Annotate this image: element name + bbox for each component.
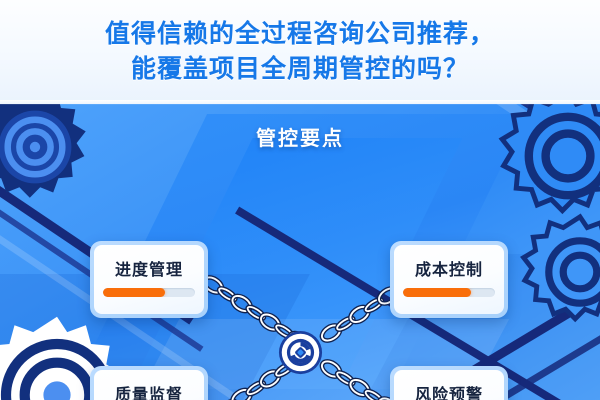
card-quality-supervision[interactable]: 质量监督 [90, 366, 208, 400]
title-line-1: 值得信赖的全过程咨询公司推荐， [105, 17, 495, 53]
progress-track [403, 288, 495, 297]
progress-fill [403, 288, 471, 297]
card-risk-warning[interactable]: 风险预警 [390, 366, 508, 400]
hub-gear-icon [278, 330, 323, 375]
infographic-stage: 管控要点 [0, 104, 600, 400]
progress-track [103, 288, 195, 297]
card-cost-control[interactable]: 成本控制 [390, 241, 508, 318]
center-heading: 管控要点 [0, 122, 600, 151]
card-inner: 进度管理 [94, 245, 204, 314]
card-schedule-management[interactable]: 进度管理 [90, 241, 208, 318]
card-inner: 风险预警 [394, 370, 504, 400]
poster-header: 值得信赖的全过程咨询公司推荐， 能覆盖项目全周期管控的吗？ [0, 0, 600, 104]
card-label: 风险预警 [415, 388, 483, 400]
card-inner: 质量监督 [94, 370, 204, 400]
card-inner: 成本控制 [394, 245, 504, 314]
progress-fill [103, 288, 165, 297]
card-label: 成本控制 [415, 263, 483, 279]
card-label: 质量监督 [115, 388, 183, 400]
card-label: 进度管理 [115, 263, 183, 279]
title-line-2: 能覆盖项目全周期管控的吗？ [131, 52, 469, 88]
infographic-poster: 值得信赖的全过程咨询公司推荐， 能覆盖项目全周期管控的吗？ [0, 0, 600, 400]
header-divider [0, 100, 600, 105]
